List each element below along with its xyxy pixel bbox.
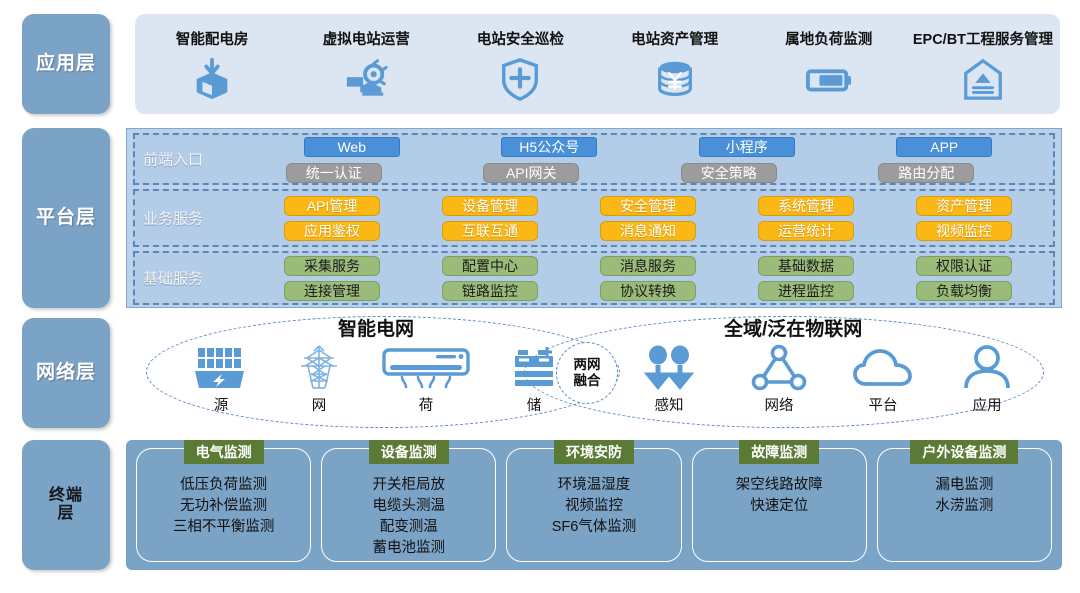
app-item-label: EPC/BT工程服务管理 <box>913 28 1053 49</box>
net-node-platform[interactable]: 平台 <box>840 340 926 415</box>
terminal-item: 无功补偿监测 <box>173 496 275 517</box>
entry-pill-h5[interactable]: H5公众号 <box>501 137 597 157</box>
basic-pill-protocol-convert[interactable]: 协议转换 <box>600 281 696 301</box>
terminal-item: 开关柜局放 <box>373 475 446 496</box>
net-node-application[interactable]: 应用 <box>944 340 1030 415</box>
business-pill-ops-statistics[interactable]: 运营统计 <box>758 221 854 241</box>
terminal-item: 视频监控 <box>552 496 637 517</box>
architecture-diagram: 应用层 平台层 网络层 终端 层 智能配电房 <box>0 0 1080 593</box>
basic-pill-collection-service[interactable]: 采集服务 <box>284 256 380 276</box>
platform-layer-band: 前端入口 Web H5公众号 小程序 APP 统一认证 API网关 安全策略 路… <box>126 128 1062 308</box>
net-node-source[interactable]: 源 <box>178 340 264 415</box>
terminal-card-caption: 故障监测 <box>739 440 819 464</box>
business-pill-message-notify[interactable]: 消息通知 <box>600 221 696 241</box>
terminal-card-outdoor[interactable]: 户外设备监测 漏电监测 水涝监测 <box>877 448 1052 562</box>
app-item-label: 虚拟电站运营 <box>323 28 410 49</box>
air-conditioner-icon <box>380 340 472 392</box>
app-item-smart-substation[interactable]: 智能配电房 <box>135 28 289 103</box>
business-pill-interconnect[interactable]: 互联互通 <box>442 221 538 241</box>
iot-title: 全域/泛在物联网 <box>724 314 862 341</box>
platform-front-entry-panel: 前端入口 Web H5公众号 小程序 APP 统一认证 API网关 安全策略 路… <box>133 133 1055 185</box>
business-services-row-2: 应用鉴权 互联互通 消息通知 运营统计 视频监控 <box>253 221 1043 241</box>
solar-panel-icon <box>192 340 250 392</box>
layer-tab-platform[interactable]: 平台层 <box>22 128 110 308</box>
terminal-card-items: 漏电监测 水涝监测 <box>935 475 993 517</box>
basic-pill-permission-auth[interactable]: 权限认证 <box>916 256 1012 276</box>
app-item-virtual-plant[interactable]: 虚拟电站运营 <box>289 28 443 103</box>
app-item-load-monitoring[interactable]: 属地负荷监测 <box>752 28 906 103</box>
basic-services-row-1: 采集服务 配置中心 消息服务 基础数据 权限认证 <box>253 256 1043 276</box>
layer-tab-terminal[interactable]: 终端 层 <box>22 440 110 570</box>
business-pill-security-mgmt[interactable]: 安全管理 <box>600 196 696 216</box>
network-layer-band: 智能电网 全域/泛在物联网 两网 融合 <box>126 312 1062 430</box>
gateway-row: 统一认证 API网关 安全策略 路由分配 <box>235 163 1025 183</box>
business-services-side-label: 业务服务 <box>143 208 203 229</box>
gateway-pill-unified-auth[interactable]: 统一认证 <box>286 163 382 183</box>
layer-tab-platform-label: 平台层 <box>36 207 96 229</box>
sensing-arrows-icon <box>639 340 699 392</box>
terminal-item: 三相不平衡监测 <box>173 517 275 538</box>
business-pill-asset-mgmt[interactable]: 资产管理 <box>916 196 1012 216</box>
basic-pill-message-service[interactable]: 消息服务 <box>600 256 696 276</box>
terminal-card-items: 架空线路故障 快速定位 <box>736 475 823 517</box>
app-item-label: 属地负荷监测 <box>785 28 872 49</box>
application-layer-band: 智能配电房 虚拟电站运营 <box>135 14 1060 114</box>
gateway-pill-security-policy[interactable]: 安全策略 <box>681 163 777 183</box>
terminal-item: 快速定位 <box>736 496 823 517</box>
net-node-label: 感知 <box>655 394 684 415</box>
business-services-row-1: API管理 设备管理 安全管理 系统管理 资产管理 <box>253 196 1043 216</box>
terminal-card-items: 开关柜局放 电缆头测温 配变测温 蓄电池监测 <box>373 475 446 559</box>
layer-tab-application-label: 应用层 <box>36 53 96 75</box>
smart-grid-title: 智能电网 <box>338 314 414 341</box>
business-pill-device-mgmt[interactable]: 设备管理 <box>442 196 538 216</box>
house-arrow-icon <box>960 55 1006 103</box>
coin-stack-yen-icon <box>652 55 698 103</box>
cloud-icon <box>852 340 914 392</box>
app-item-epc-bt-service[interactable]: EPC/BT工程服务管理 <box>906 28 1060 103</box>
net-node-storage[interactable]: 储 <box>491 340 577 415</box>
platform-business-services-panel: 业务服务 API管理 设备管理 安全管理 系统管理 资产管理 应用鉴权 互联互通… <box>133 189 1055 247</box>
terminal-card-items: 低压负荷监测 无功补偿监测 三相不平衡监测 <box>173 475 275 538</box>
terminal-item: 水涝监测 <box>935 496 993 517</box>
terminal-item: SF6气体监测 <box>552 517 637 538</box>
terminal-item: 电缆头测温 <box>373 496 446 517</box>
app-item-asset-management[interactable]: 电站资产管理 <box>598 28 752 103</box>
net-node-label: 荷 <box>419 394 434 415</box>
basic-services-side-label: 基础服务 <box>143 268 203 289</box>
terminal-card-caption: 环境安防 <box>554 440 634 464</box>
terminal-item: 配变测温 <box>373 517 446 538</box>
terminal-card-caption: 户外设备监测 <box>910 440 1018 464</box>
net-node-label: 源 <box>214 394 229 415</box>
business-pill-system-mgmt[interactable]: 系统管理 <box>758 196 854 216</box>
convergence-label-line-1: 两网 <box>574 357 601 373</box>
basic-pill-process-monitor[interactable]: 进程监控 <box>758 281 854 301</box>
app-item-label: 电站安全巡检 <box>477 28 564 49</box>
layer-tab-terminal-label-1: 终端 <box>49 487 83 505</box>
terminal-item: 漏电监测 <box>935 475 993 496</box>
gateway-pill-route-dispatch[interactable]: 路由分配 <box>878 163 974 183</box>
terminal-card-environment[interactable]: 环境安防 环境温湿度 视频监控 SF6气体监测 <box>506 448 681 562</box>
basic-pill-load-balance[interactable]: 负载均衡 <box>916 281 1012 301</box>
net-node-label: 储 <box>527 394 542 415</box>
terminal-card-device[interactable]: 设备监测 开关柜局放 电缆头测温 配变测温 蓄电池监测 <box>321 448 496 562</box>
front-entry-side-label: 前端入口 <box>143 149 203 170</box>
app-item-safety-inspection[interactable]: 电站安全巡检 <box>443 28 597 103</box>
terminal-item: 架空线路故障 <box>736 475 823 496</box>
user-icon <box>961 340 1013 392</box>
business-pill-api-mgmt[interactable]: API管理 <box>284 196 380 216</box>
net-node-label: 网络 <box>765 394 794 415</box>
shield-plus-icon <box>497 55 543 103</box>
layer-tab-terminal-label-2: 层 <box>49 505 83 523</box>
layer-tab-network[interactable]: 网络层 <box>22 318 110 428</box>
application-items: 智能配电房 虚拟电站运营 <box>135 14 1060 114</box>
gateway-pill-api-gateway[interactable]: API网关 <box>483 163 579 183</box>
layer-tab-network-label: 网络层 <box>36 362 96 384</box>
business-pill-app-auth[interactable]: 应用鉴权 <box>284 221 380 241</box>
app-item-label: 电站资产管理 <box>631 28 718 49</box>
net-node-label: 应用 <box>973 394 1002 415</box>
business-pill-video-surveillance[interactable]: 视频监控 <box>916 221 1012 241</box>
platform-basic-services-panel: 基础服务 采集服务 配置中心 消息服务 基础数据 权限认证 连接管理 链路监控 … <box>133 251 1055 305</box>
terminal-item: 环境温湿度 <box>552 475 637 496</box>
box-download-icon <box>189 55 235 103</box>
layer-tab-application[interactable]: 应用层 <box>22 14 110 114</box>
entry-pill-miniprogram[interactable]: 小程序 <box>699 137 795 157</box>
terminal-card-electrical[interactable]: 电气监测 低压负荷监测 无功补偿监测 三相不平衡监测 <box>136 448 311 562</box>
basic-services-row-2: 连接管理 链路监控 协议转换 进程监控 负载均衡 <box>253 281 1043 301</box>
battery-icon <box>804 55 854 103</box>
net-node-label: 平台 <box>869 394 898 415</box>
terminal-layer-band: 电气监测 低压负荷监测 无功补偿监测 三相不平衡监测 设备监测 开关柜局放 电缆… <box>126 440 1062 570</box>
terminal-card-fault[interactable]: 故障监测 架空线路故障 快速定位 <box>692 448 867 562</box>
battery-storage-icon <box>511 340 557 392</box>
transmission-tower-icon <box>294 340 344 392</box>
terminal-card-items: 环境温湿度 视频监控 SF6气体监测 <box>552 475 637 538</box>
net-node-label: 网 <box>312 394 327 415</box>
hand-settings-icon <box>343 55 389 103</box>
entry-pill-web[interactable]: Web <box>304 137 400 157</box>
net-node-network[interactable]: 网络 <box>736 340 822 415</box>
terminal-card-caption: 电气监测 <box>184 440 264 464</box>
net-node-load[interactable]: 荷 <box>371 340 481 415</box>
terminal-card-caption: 设备监测 <box>369 440 449 464</box>
basic-pill-connection-mgmt[interactable]: 连接管理 <box>284 281 380 301</box>
terminal-cards: 电气监测 低压负荷监测 无功补偿监测 三相不平衡监测 设备监测 开关柜局放 电缆… <box>126 440 1062 570</box>
app-item-label: 智能配电房 <box>176 28 249 49</box>
network-triangle-icon <box>751 340 807 392</box>
terminal-item: 蓄电池监测 <box>373 538 446 559</box>
basic-pill-link-monitor[interactable]: 链路监控 <box>442 281 538 301</box>
front-entry-row: Web H5公众号 小程序 APP <box>253 137 1043 157</box>
basic-pill-config-center[interactable]: 配置中心 <box>442 256 538 276</box>
convergence-label-line-2: 融合 <box>574 373 601 389</box>
basic-pill-base-data[interactable]: 基础数据 <box>758 256 854 276</box>
net-node-grid[interactable]: 网 <box>276 340 362 415</box>
entry-pill-app[interactable]: APP <box>896 137 992 157</box>
net-node-sensing[interactable]: 感知 <box>626 340 712 415</box>
terminal-item: 低压负荷监测 <box>173 475 275 496</box>
